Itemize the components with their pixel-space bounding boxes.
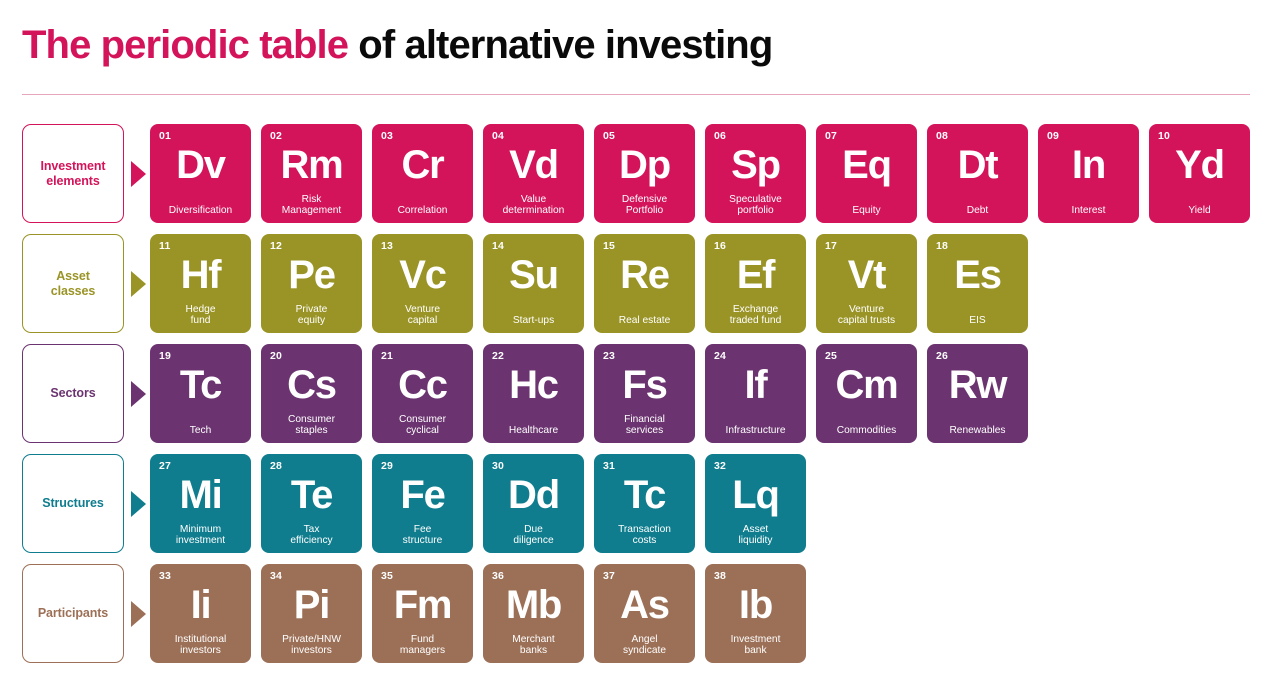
element-tile[interactable]: 06SpSpeculative portfolio <box>705 124 806 223</box>
element-symbol: Rm <box>261 142 362 188</box>
element-tile[interactable]: 33IiInstitutional investors <box>150 564 251 663</box>
element-symbol: Hf <box>150 252 251 298</box>
periodic-grid: Investment elements01DvDiversification02… <box>0 124 1274 663</box>
element-tile[interactable]: 36MbMerchant banks <box>483 564 584 663</box>
element-symbol: Dd <box>483 472 584 518</box>
element-tile[interactable]: 07EqEquity <box>816 124 917 223</box>
element-number: 24 <box>714 351 726 362</box>
element-number: 13 <box>381 241 393 252</box>
element-number: 01 <box>159 131 171 142</box>
arrow-right-icon <box>131 491 146 517</box>
element-caption: Debt <box>930 205 1025 217</box>
element-number: 25 <box>825 351 837 362</box>
element-number: 33 <box>159 571 171 582</box>
element-number: 36 <box>492 571 504 582</box>
element-caption: Value determination <box>486 194 581 217</box>
category-label-box-investment_elements[interactable]: Investment elements <box>22 124 124 223</box>
element-number: 37 <box>603 571 615 582</box>
element-caption: Speculative portfolio <box>708 194 803 217</box>
element-number: 09 <box>1047 131 1059 142</box>
element-symbol: Es <box>927 252 1028 298</box>
category-label-block: Structures <box>0 454 150 553</box>
element-caption: Real estate <box>597 315 692 327</box>
category-row-participants: Participants33IiInstitutional investors3… <box>0 564 1274 663</box>
element-caption: Financial services <box>597 414 692 437</box>
element-tile[interactable]: 37AsAngel syndicate <box>594 564 695 663</box>
element-number: 14 <box>492 241 504 252</box>
element-caption: Minimum investment <box>153 524 248 547</box>
element-number: 07 <box>825 131 837 142</box>
element-symbol: Cr <box>372 142 473 188</box>
element-symbol: Fm <box>372 582 473 628</box>
element-symbol: Mi <box>150 472 251 518</box>
arrow-right-icon <box>131 161 146 187</box>
category-label-text: Asset classes <box>51 269 96 299</box>
element-number: 31 <box>603 461 615 472</box>
category-label-text: Structures <box>42 496 104 511</box>
element-caption: Consumer cyclical <box>375 414 470 437</box>
element-caption: Start-ups <box>486 315 581 327</box>
category-row-investment_elements: Investment elements01DvDiversification02… <box>0 124 1274 223</box>
category-label-block: Investment elements <box>0 124 150 223</box>
element-caption: Private equity <box>264 304 359 327</box>
page-title: The periodic table of alternative invest… <box>22 16 1252 74</box>
element-caption: Renewables <box>930 425 1025 437</box>
element-symbol: Dp <box>594 142 695 188</box>
element-number: 30 <box>492 461 504 472</box>
element-symbol: Eq <box>816 142 917 188</box>
element-tile[interactable]: 24IfInfrastructure <box>705 344 806 443</box>
arrow-right-icon <box>131 381 146 407</box>
element-tile[interactable]: 12PePrivate equity <box>261 234 362 333</box>
element-tile[interactable]: 18EsEIS <box>927 234 1028 333</box>
element-symbol: Sp <box>705 142 806 188</box>
element-caption: Exchange traded fund <box>708 304 803 327</box>
element-caption: Angel syndicate <box>597 634 692 657</box>
element-symbol: Cs <box>261 362 362 408</box>
element-tile[interactable]: 38IbInvestment bank <box>705 564 806 663</box>
category-row-sectors: Sectors19TcTech20CsConsumer staples21CcC… <box>0 344 1274 443</box>
element-tile[interactable]: 01DvDiversification <box>150 124 251 223</box>
element-caption: Investment bank <box>708 634 803 657</box>
element-symbol: Su <box>483 252 584 298</box>
element-number: 29 <box>381 461 393 472</box>
element-number: 21 <box>381 351 393 362</box>
element-number: 23 <box>603 351 615 362</box>
element-caption: Institutional investors <box>153 634 248 657</box>
element-caption: Venture capital <box>375 304 470 327</box>
element-symbol: Dv <box>150 142 251 188</box>
element-caption: Merchant banks <box>486 634 581 657</box>
element-symbol: Te <box>261 472 362 518</box>
element-caption: Transaction costs <box>597 524 692 547</box>
element-number: 15 <box>603 241 615 252</box>
element-symbol: Pi <box>261 582 362 628</box>
element-symbol: Cc <box>372 362 473 408</box>
tile-group-sectors: 19TcTech20CsConsumer staples21CcConsumer… <box>150 344 1028 443</box>
element-caption: Diversification <box>153 205 248 217</box>
element-tile[interactable]: 17VtVenture capital trusts <box>816 234 917 333</box>
element-tile[interactable]: 34PiPrivate/HNW investors <box>261 564 362 663</box>
element-tile[interactable]: 31TcTransaction costs <box>594 454 695 553</box>
element-number: 04 <box>492 131 504 142</box>
element-symbol: Mb <box>483 582 584 628</box>
element-caption: Risk Management <box>264 194 359 217</box>
category-label-box-sectors[interactable]: Sectors <box>22 344 124 443</box>
element-tile[interactable]: 04VdValue determination <box>483 124 584 223</box>
element-number: 06 <box>714 131 726 142</box>
element-number: 05 <box>603 131 615 142</box>
element-caption: Fee structure <box>375 524 470 547</box>
element-caption: EIS <box>930 315 1025 327</box>
element-tile[interactable]: 23FsFinancial services <box>594 344 695 443</box>
element-number: 22 <box>492 351 504 362</box>
category-label-box-structures[interactable]: Structures <box>22 454 124 553</box>
element-caption: Tax efficiency <box>264 524 359 547</box>
element-caption: Infrastructure <box>708 425 803 437</box>
element-symbol: Vt <box>816 252 917 298</box>
category-label-box-participants[interactable]: Participants <box>22 564 124 663</box>
element-number: 27 <box>159 461 171 472</box>
element-tile[interactable]: 16EfExchange traded fund <box>705 234 806 333</box>
element-number: 34 <box>270 571 282 582</box>
element-tile[interactable]: 08DtDebt <box>927 124 1028 223</box>
element-number: 28 <box>270 461 282 472</box>
element-caption: Private/HNW investors <box>264 634 359 657</box>
tile-group-structures: 27MiMinimum investment28TeTax efficiency… <box>150 454 806 553</box>
tile-group-investment_elements: 01DvDiversification02RmRisk Management03… <box>150 124 1250 223</box>
element-number: 38 <box>714 571 726 582</box>
element-caption: Tech <box>153 425 248 437</box>
element-number: 10 <box>1158 131 1170 142</box>
element-number: 11 <box>159 241 171 252</box>
element-caption: Hedge fund <box>153 304 248 327</box>
category-row-structures: Structures27MiMinimum investment28TeTax … <box>0 454 1274 553</box>
element-number: 03 <box>381 131 393 142</box>
element-symbol: Pe <box>261 252 362 298</box>
element-symbol: Ii <box>150 582 251 628</box>
element-tile[interactable]: 21CcConsumer cyclical <box>372 344 473 443</box>
element-caption: Venture capital trusts <box>819 304 914 327</box>
element-number: 20 <box>270 351 282 362</box>
element-tile[interactable]: 10YdYield <box>1149 124 1250 223</box>
element-number: 26 <box>936 351 948 362</box>
element-symbol: Vd <box>483 142 584 188</box>
element-tile[interactable]: 14SuStart-ups <box>483 234 584 333</box>
periodic-table-infographic: The periodic table of alternative invest… <box>0 0 1274 690</box>
tile-group-asset_classes: 11HfHedge fund12PePrivate equity13VcVent… <box>150 234 1028 333</box>
element-symbol: Lq <box>705 472 806 518</box>
element-tile[interactable]: 25CmCommodities <box>816 344 917 443</box>
category-label-block: Asset classes <box>0 234 150 333</box>
element-tile[interactable]: 20CsConsumer staples <box>261 344 362 443</box>
element-caption: Fund managers <box>375 634 470 657</box>
element-symbol: Rw <box>927 362 1028 408</box>
element-caption: Commodities <box>819 425 914 437</box>
element-symbol: Vc <box>372 252 473 298</box>
category-row-asset_classes: Asset classes11HfHedge fund12PePrivate e… <box>0 234 1274 333</box>
element-tile[interactable]: 09InInterest <box>1038 124 1139 223</box>
element-symbol: Cm <box>816 362 917 408</box>
element-tile[interactable]: 19TcTech <box>150 344 251 443</box>
element-number: 19 <box>159 351 171 362</box>
element-number: 12 <box>270 241 282 252</box>
category-label-text: Sectors <box>50 386 95 401</box>
element-tile[interactable]: 30DdDue diligence <box>483 454 584 553</box>
element-caption: Due diligence <box>486 524 581 547</box>
element-symbol: Hc <box>483 362 584 408</box>
element-number: 02 <box>270 131 282 142</box>
element-number: 32 <box>714 461 726 472</box>
category-label-block: Sectors <box>0 344 150 443</box>
element-symbol: Re <box>594 252 695 298</box>
element-caption: Equity <box>819 205 914 217</box>
element-tile[interactable]: 03CrCorrelation <box>372 124 473 223</box>
element-symbol: Ef <box>705 252 806 298</box>
element-number: 17 <box>825 241 837 252</box>
element-caption: Yield <box>1152 205 1247 217</box>
element-symbol: Fe <box>372 472 473 518</box>
element-symbol: If <box>705 362 806 408</box>
category-label-text: Investment elements <box>41 159 106 189</box>
element-tile[interactable]: 05DpDefensive Portfolio <box>594 124 695 223</box>
arrow-right-icon <box>131 271 146 297</box>
category-label-block: Participants <box>0 564 150 663</box>
element-tile[interactable]: 11HfHedge fund <box>150 234 251 333</box>
page-title-accent: The periodic table <box>22 23 348 67</box>
element-symbol: Fs <box>594 362 695 408</box>
element-number: 16 <box>714 241 726 252</box>
element-symbol: Yd <box>1149 142 1250 188</box>
element-tile[interactable]: 27MiMinimum investment <box>150 454 251 553</box>
element-symbol: Tc <box>150 362 251 408</box>
page-title-plain: of alternative investing <box>348 23 772 67</box>
element-number: 35 <box>381 571 393 582</box>
element-tile[interactable]: 35FmFund managers <box>372 564 473 663</box>
element-caption: Consumer staples <box>264 414 359 437</box>
element-tile[interactable]: 29FeFee structure <box>372 454 473 553</box>
element-caption: Healthcare <box>486 425 581 437</box>
arrow-right-icon <box>131 601 146 627</box>
element-symbol: Tc <box>594 472 695 518</box>
element-caption: Correlation <box>375 205 470 217</box>
element-tile[interactable]: 26RwRenewables <box>927 344 1028 443</box>
element-caption: Defensive Portfolio <box>597 194 692 217</box>
element-caption: Asset liquidity <box>708 524 803 547</box>
element-tile[interactable]: 13VcVenture capital <box>372 234 473 333</box>
element-tile[interactable]: 02RmRisk Management <box>261 124 362 223</box>
element-caption: Interest <box>1041 205 1136 217</box>
element-tile[interactable]: 15ReReal estate <box>594 234 695 333</box>
element-tile[interactable]: 22HcHealthcare <box>483 344 584 443</box>
element-symbol: In <box>1038 142 1139 188</box>
category-label-text: Participants <box>38 606 108 621</box>
element-number: 18 <box>936 241 948 252</box>
element-number: 08 <box>936 131 948 142</box>
element-tile[interactable]: 28TeTax efficiency <box>261 454 362 553</box>
category-label-box-asset_classes[interactable]: Asset classes <box>22 234 124 333</box>
tile-group-participants: 33IiInstitutional investors34PiPrivate/H… <box>150 564 806 663</box>
element-symbol: Dt <box>927 142 1028 188</box>
title-divider <box>22 94 1250 95</box>
element-tile[interactable]: 32LqAsset liquidity <box>705 454 806 553</box>
element-symbol: Ib <box>705 582 806 628</box>
element-symbol: As <box>594 582 695 628</box>
